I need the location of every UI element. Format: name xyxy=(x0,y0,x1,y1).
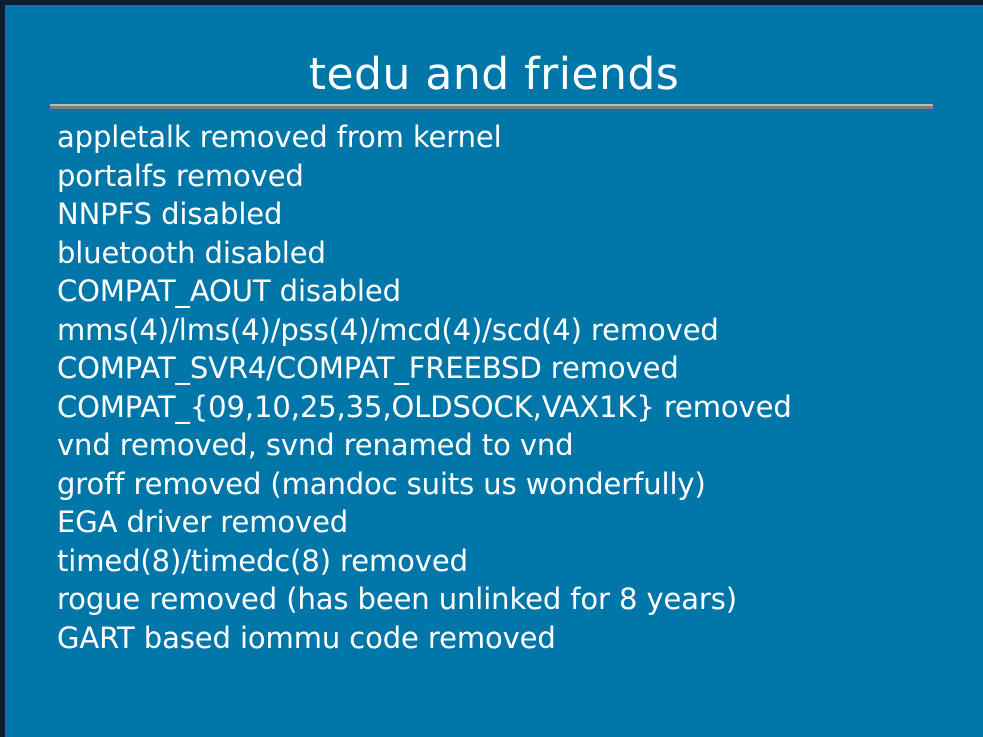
list-item: COMPAT_AOUT disabled xyxy=(57,272,971,311)
list-item: appletalk removed from kernel xyxy=(57,118,971,157)
list-item: COMPAT_SVR4/COMPAT_FREEBSD removed xyxy=(57,349,971,388)
list-item: NNPFS disabled xyxy=(57,195,971,234)
list-item: rogue removed (has been unlinked for 8 y… xyxy=(57,580,971,619)
list-item: timed(8)/timedc(8) removed xyxy=(57,542,971,581)
list-item: GART based iommu code removed xyxy=(57,619,971,658)
bullet-list: appletalk removed from kernel portalfs r… xyxy=(57,118,971,657)
presentation-slide: tedu and friends appletalk removed from … xyxy=(0,0,983,737)
list-item: portalfs removed xyxy=(57,157,971,196)
list-item: vnd removed, svnd renamed to vnd xyxy=(57,426,971,465)
list-item: groff removed (mandoc suits us wonderful… xyxy=(57,465,971,504)
page-title: tedu and friends xyxy=(5,49,983,101)
list-item: bluetooth disabled xyxy=(57,234,971,273)
list-item: EGA driver removed xyxy=(57,503,971,542)
list-item: mms(4)/lms(4)/pss(4)/mcd(4)/scd(4) remov… xyxy=(57,311,971,350)
title-divider xyxy=(50,104,933,109)
list-item: COMPAT_{09,10,25,35,OLDSOCK,VAX1K} remov… xyxy=(57,388,971,427)
